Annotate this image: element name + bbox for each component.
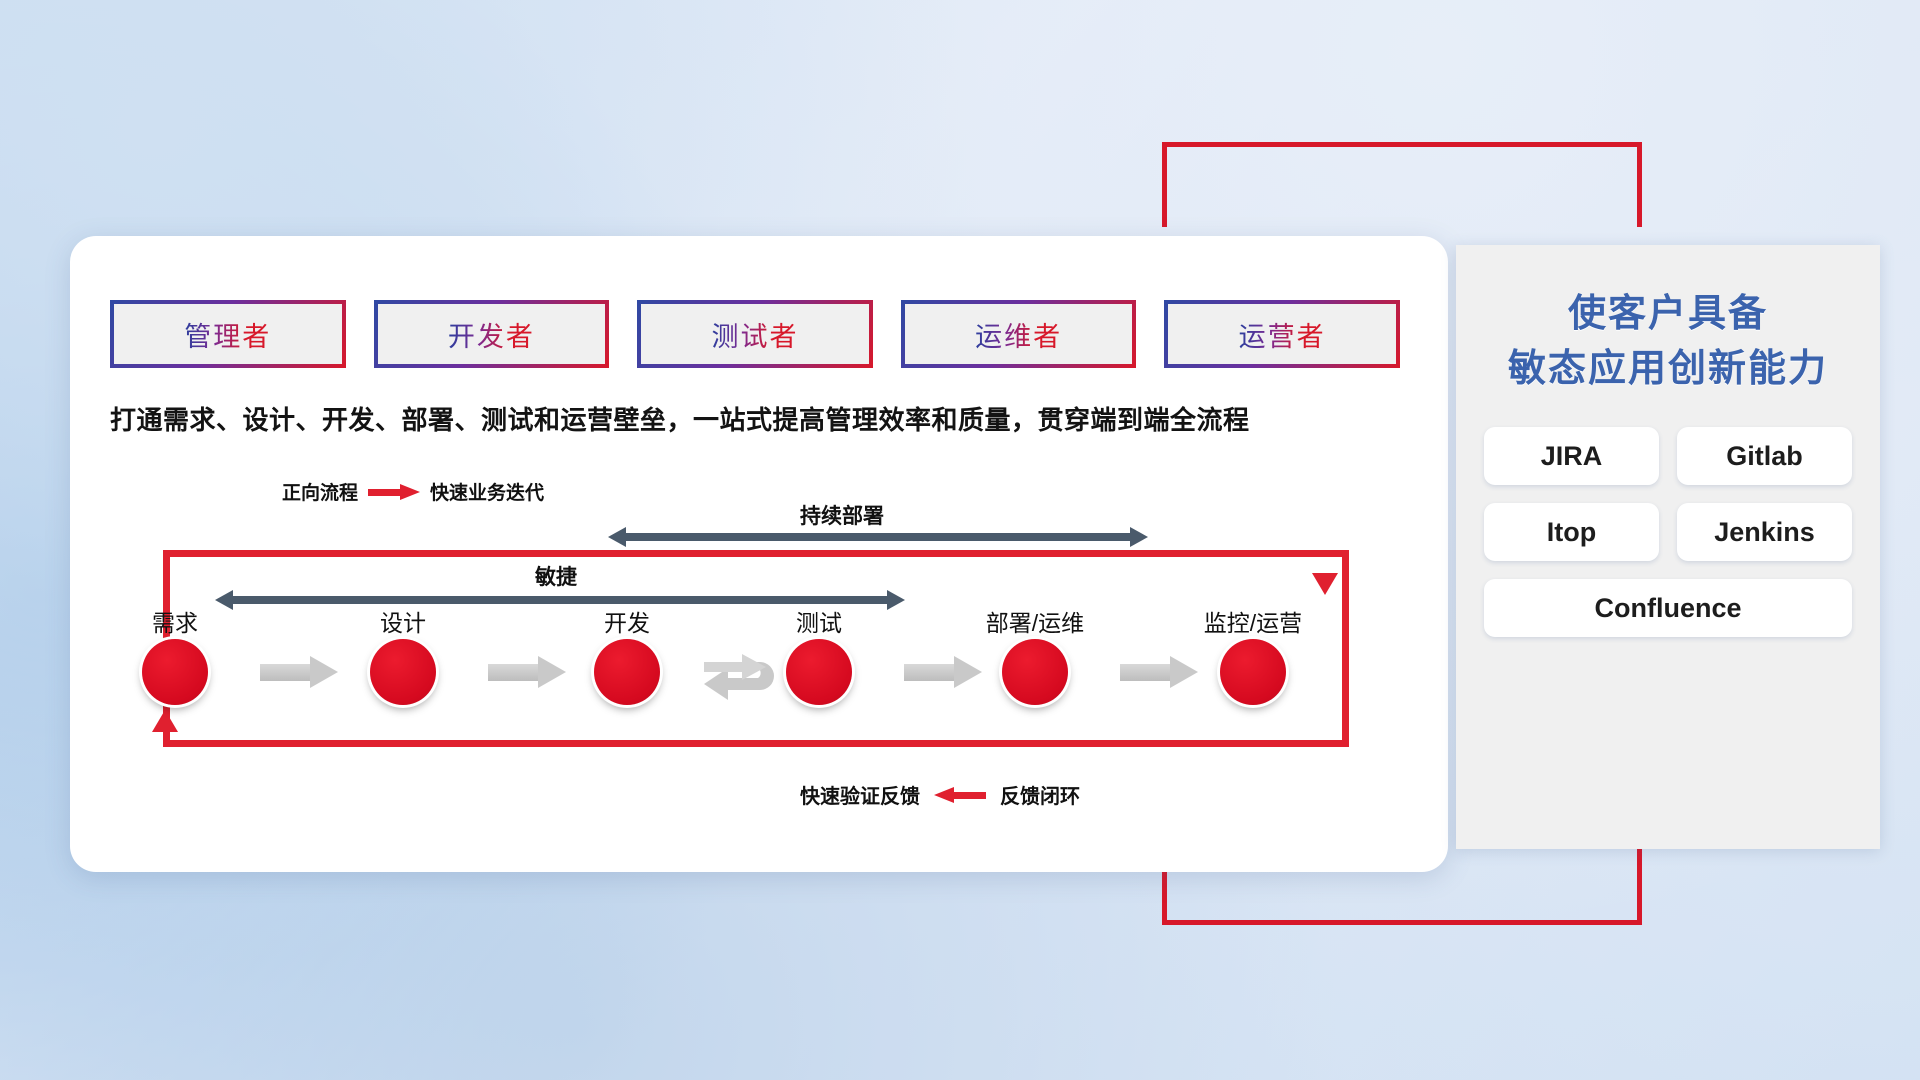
continuous-deployment-label: 持续部署: [800, 500, 884, 530]
forward-flow-to-label: 快速业务迭代: [430, 478, 544, 505]
pipeline-stage-testing[interactable]: 测试: [754, 612, 884, 705]
stage-dot-icon: [1002, 639, 1068, 705]
panel-title-line2: 敏态应用创新能力: [1456, 342, 1880, 397]
feedback-from-label: 反馈闭环: [1000, 780, 1080, 809]
value-proposition-panel: 使客户具备 敏态应用创新能力 JIRA Gitlab Itop Jenkins …: [1456, 245, 1880, 849]
tool-chip-jenkins[interactable]: Jenkins: [1677, 503, 1852, 561]
tool-chip-itop[interactable]: Itop: [1484, 503, 1659, 561]
stage-label: 测试: [754, 612, 884, 635]
pipeline-stage-development[interactable]: 开发: [562, 612, 692, 705]
role-box-developer[interactable]: 开发者: [374, 300, 610, 368]
pipeline-stage-monitor-operations[interactable]: 监控/运营: [1188, 612, 1318, 705]
role-box-tester[interactable]: 测试者: [637, 300, 873, 368]
stage-label: 监控/运营: [1188, 612, 1318, 635]
role-label: 管理者: [184, 315, 271, 354]
role-label: 运维者: [975, 315, 1062, 354]
tool-chip-gitlab[interactable]: Gitlab: [1677, 427, 1852, 485]
arrow-right-gray-icon: [260, 656, 338, 688]
tool-chip-grid: JIRA Gitlab Itop Jenkins Confluence: [1484, 427, 1852, 637]
forward-flow-annotation: 正向流程 快速业务迭代: [282, 478, 544, 505]
double-arrow-continuous-deployment-icon: [608, 527, 1148, 547]
role-label: 测试者: [711, 315, 798, 354]
panel-title-line1: 使客户具备: [1456, 287, 1880, 342]
arrow-right-gray-icon: [1120, 656, 1198, 688]
stage-label: 开发: [562, 612, 692, 635]
stage-dot-icon: [786, 639, 852, 705]
stage-label: 设计: [338, 612, 468, 635]
stage-label: 需求: [110, 612, 240, 635]
agile-label: 敏捷: [535, 561, 577, 591]
tool-chip-confluence[interactable]: Confluence: [1484, 579, 1852, 637]
double-arrow-agile-icon: [215, 590, 905, 610]
pipeline-stage-requirements[interactable]: 需求: [110, 612, 240, 705]
description-text: 打通需求、设计、开发、部署、测试和运营壁垒，一站式提高管理效率和质量，贯穿端到端…: [110, 400, 1410, 437]
role-label: 运营者: [1239, 315, 1326, 354]
arrow-right-red-icon: [368, 486, 420, 498]
stage-dot-icon: [142, 639, 208, 705]
panel-title: 使客户具备 敏态应用创新能力: [1456, 245, 1880, 397]
feedback-to-label: 快速验证反馈: [800, 780, 920, 809]
role-box-row: 管理者 开发者 测试者 运维者 运营者: [110, 300, 1400, 368]
role-box-ops[interactable]: 运维者: [901, 300, 1137, 368]
pipeline-stage-design[interactable]: 设计: [338, 612, 468, 705]
arrow-left-red-icon: [934, 789, 986, 801]
tool-chip-jira[interactable]: JIRA: [1484, 427, 1659, 485]
pipeline-stage-deploy-ops[interactable]: 部署/运维: [970, 612, 1100, 705]
arrow-right-gray-icon: [488, 656, 566, 688]
role-label: 开发者: [448, 315, 535, 354]
role-box-manager[interactable]: 管理者: [110, 300, 346, 368]
loop-arrow-down-icon: [1312, 573, 1338, 595]
stage-dot-icon: [594, 639, 660, 705]
forward-flow-from-label: 正向流程: [282, 478, 358, 505]
red-connector-top: [1162, 142, 1642, 227]
devops-pipeline: 需求 设计 开发 测试 部署/运维: [110, 612, 1410, 722]
stage-label: 部署/运维: [970, 612, 1100, 635]
stage-dot-icon: [370, 639, 436, 705]
feedback-annotation: 快速验证反馈 反馈闭环: [800, 780, 1080, 809]
slide-canvas: 管理者 开发者 测试者 运维者 运营者 打通需求、设计、开发、部署、测试和运营壁…: [0, 0, 1920, 1080]
role-box-operations[interactable]: 运营者: [1164, 300, 1400, 368]
stage-dot-icon: [1220, 639, 1286, 705]
